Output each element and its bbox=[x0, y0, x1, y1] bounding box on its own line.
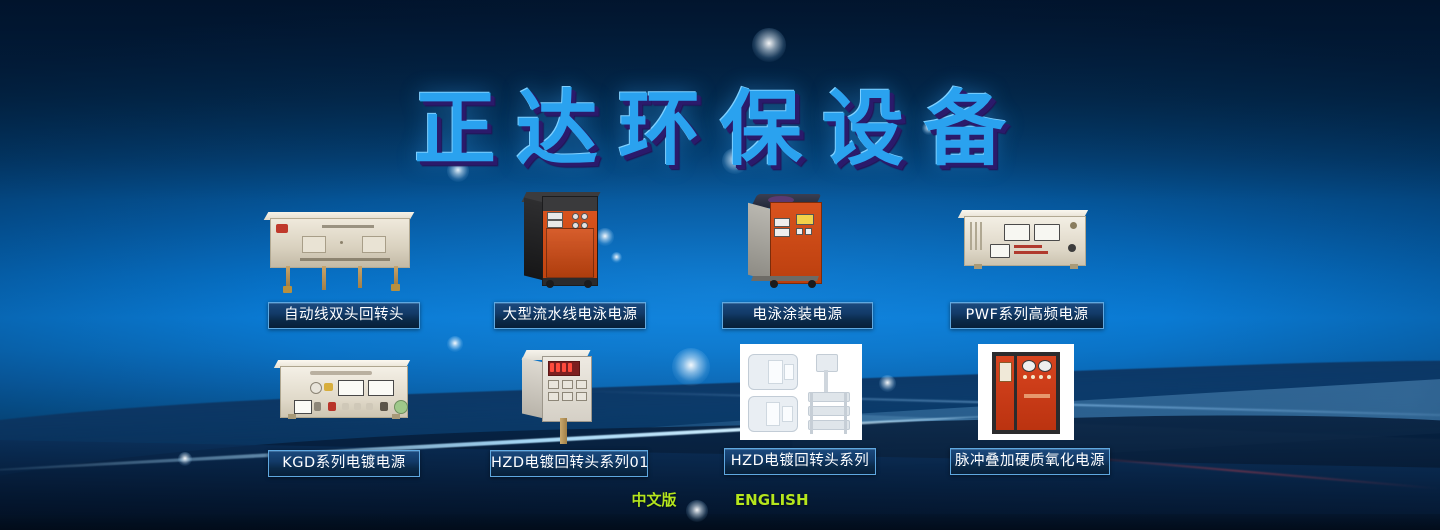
product-image-hzd-electroplating-rotary-head-series bbox=[740, 344, 862, 440]
control-button-icon bbox=[1023, 375, 1027, 379]
voltage-gauge bbox=[1004, 224, 1030, 241]
product-card-automatic-line-double-head-rotary-head[interactable]: 自动线双头回转头 bbox=[262, 200, 427, 330]
product-image-pwf-series-high-frequency-power-supply bbox=[952, 200, 1102, 296]
control-button-icon bbox=[562, 392, 573, 401]
product-image-automatic-line-double-head-rotary-head bbox=[262, 200, 422, 296]
product-label-pulse-superposition-hard-anodizing-power-supply[interactable]: 脉冲叠加硬质氧化电源 bbox=[950, 448, 1110, 475]
unit-side-panel bbox=[522, 357, 544, 418]
language-link-english[interactable]: ENGLISH bbox=[735, 491, 809, 509]
product-label-large-assembly-line-electrophoresis-power-supply[interactable]: 大型流水线电泳电源 bbox=[494, 302, 646, 329]
inset-device-bottom-accessory bbox=[782, 406, 793, 422]
cabinet-caster-wheel bbox=[808, 280, 816, 288]
language-switcher: 中文版 ENGLISH bbox=[0, 489, 1440, 510]
cabinet-side-panel bbox=[748, 203, 772, 281]
machine-leg bbox=[394, 266, 398, 284]
indicator-row bbox=[310, 371, 372, 375]
control-display bbox=[990, 244, 1010, 258]
vent-slot bbox=[970, 222, 972, 250]
machine-panel bbox=[302, 236, 326, 253]
brand-text bbox=[1014, 251, 1048, 254]
machine-foot bbox=[391, 284, 400, 291]
machine-panel bbox=[362, 236, 386, 253]
machine-caption-text bbox=[300, 258, 390, 261]
language-link-chinese[interactable]: 中文版 bbox=[631, 489, 676, 510]
cabinet-display-meter bbox=[547, 220, 563, 228]
product-card-large-assembly-line-electrophoresis-power-supply[interactable]: 大型流水线电泳电源 bbox=[494, 192, 649, 332]
machine-leg bbox=[358, 266, 362, 288]
control-button-icon bbox=[548, 392, 559, 401]
power-indicator-icon bbox=[394, 400, 408, 414]
control-button-icon bbox=[1031, 375, 1035, 379]
cabinet-brand-plate bbox=[1024, 394, 1050, 398]
button-icon bbox=[380, 402, 388, 411]
vent-slot bbox=[975, 222, 977, 250]
product-image-kgd-series-electroplating-power-supply bbox=[272, 350, 418, 444]
cabinet-caster-wheel bbox=[770, 280, 778, 288]
splash-page: 正达环保设备 自动线双头回转头 bbox=[0, 0, 1440, 530]
vent-slot bbox=[980, 222, 982, 250]
side-control-panel bbox=[999, 362, 1012, 382]
product-label-hzd-electroplating-rotary-head-series-01[interactable]: HZD电镀回转头系列01 bbox=[490, 450, 648, 477]
current-gauge bbox=[1034, 224, 1060, 241]
panel-foot bbox=[392, 414, 400, 419]
machine-indicator-icon bbox=[340, 241, 343, 244]
control-button-icon bbox=[1047, 375, 1051, 379]
product-label-pwf-series-high-frequency-power-supply[interactable]: PWF系列高频电源 bbox=[950, 302, 1104, 329]
knob-icon bbox=[310, 382, 322, 394]
cabinet-door bbox=[546, 228, 594, 278]
product-card-hzd-electroplating-rotary-head-series-01[interactable]: HZD电镀回转头系列01 bbox=[490, 348, 650, 480]
product-image-large-assembly-line-electrophoresis-power-supply bbox=[520, 192, 620, 294]
brand-logo-icon bbox=[276, 224, 288, 233]
product-label-kgd-series-electroplating-power-supply[interactable]: KGD系列电镀电源 bbox=[268, 450, 420, 477]
page-title-text: 正达环保设备 bbox=[414, 62, 1026, 181]
control-button-icon bbox=[576, 380, 587, 389]
cabinet-control-block bbox=[796, 214, 814, 225]
machine-leg bbox=[286, 266, 290, 286]
button-icon bbox=[366, 403, 373, 410]
stand-leg bbox=[810, 392, 813, 434]
product-image-pulse-superposition-hard-anodizing-power-supply bbox=[978, 344, 1074, 440]
rotary-shaft bbox=[560, 418, 567, 444]
led-digit bbox=[550, 363, 554, 372]
control-button-icon bbox=[562, 380, 573, 389]
status-display bbox=[294, 400, 312, 414]
product-card-kgd-series-electroplating-power-supply[interactable]: KGD系列电镀电源 bbox=[268, 350, 423, 480]
panel-foot bbox=[288, 414, 296, 419]
supply-foot bbox=[1070, 264, 1078, 269]
product-image-electrophoretic-coating-power-supply bbox=[746, 192, 846, 294]
cabinet-button-icon bbox=[796, 228, 803, 235]
cabinet-knob-icon bbox=[581, 213, 588, 220]
inset-device-top bbox=[768, 360, 783, 384]
product-card-pulse-superposition-hard-anodizing-power-supply[interactable]: 脉冲叠加硬质氧化电源 bbox=[950, 344, 1112, 480]
product-label-hzd-electroplating-rotary-head-series[interactable]: HZD电镀回转头系列 bbox=[724, 448, 876, 475]
inset-device-top-accessory bbox=[784, 364, 794, 380]
button-icon bbox=[354, 403, 361, 410]
machine-title-text bbox=[322, 225, 374, 228]
voltage-meter bbox=[1022, 360, 1036, 372]
button-icon bbox=[328, 402, 336, 411]
cabinet-button-icon bbox=[805, 228, 812, 235]
product-image-hzd-electroplating-rotary-head-series-01 bbox=[518, 348, 618, 448]
stand-leg bbox=[844, 392, 847, 434]
current-meter bbox=[368, 380, 394, 396]
connector-icon bbox=[1070, 222, 1077, 229]
current-meter bbox=[1038, 360, 1052, 372]
power-knob-icon bbox=[1068, 244, 1076, 252]
stand-column bbox=[824, 370, 828, 392]
voltage-meter bbox=[338, 380, 364, 396]
product-label-electrophoretic-coating-power-supply[interactable]: 电泳涂装电源 bbox=[722, 302, 873, 329]
product-card-hzd-electroplating-rotary-head-series[interactable]: HZD电镀回转头系列 bbox=[724, 344, 876, 480]
cabinet-display-meter bbox=[547, 212, 563, 220]
control-button-icon bbox=[576, 392, 587, 401]
inset-device-bottom bbox=[766, 402, 780, 426]
machine-foot bbox=[283, 286, 292, 293]
cabinet-caster-wheel bbox=[584, 280, 592, 288]
page-title: 正达环保设备 bbox=[0, 62, 1440, 181]
led-digit bbox=[568, 363, 572, 372]
control-button-icon bbox=[548, 380, 559, 389]
cabinet-caster-wheel bbox=[546, 280, 554, 288]
led-digit bbox=[556, 363, 560, 372]
machine-leg bbox=[322, 266, 326, 290]
cabinet-knob-icon bbox=[572, 213, 579, 220]
product-card-electrophoretic-coating-power-supply[interactable]: 电泳涂装电源 bbox=[722, 192, 874, 332]
background-bottom-bar bbox=[0, 514, 1440, 530]
cabinet-side-panel bbox=[524, 198, 544, 281]
cabinet-display-meter bbox=[774, 228, 790, 237]
cabinet-display-meter bbox=[774, 218, 790, 227]
model-text bbox=[1014, 245, 1042, 248]
led-digit bbox=[562, 363, 566, 372]
switch-icon bbox=[314, 402, 321, 411]
product-card-pwf-series-high-frequency-power-supply[interactable]: PWF系列高频电源 bbox=[948, 200, 1106, 330]
product-label-automatic-line-double-head-rotary-head[interactable]: 自动线双头回转头 bbox=[268, 302, 420, 329]
control-button-icon bbox=[1039, 375, 1043, 379]
button-icon bbox=[324, 383, 333, 391]
supply-foot bbox=[974, 264, 982, 269]
button-icon bbox=[342, 403, 349, 410]
